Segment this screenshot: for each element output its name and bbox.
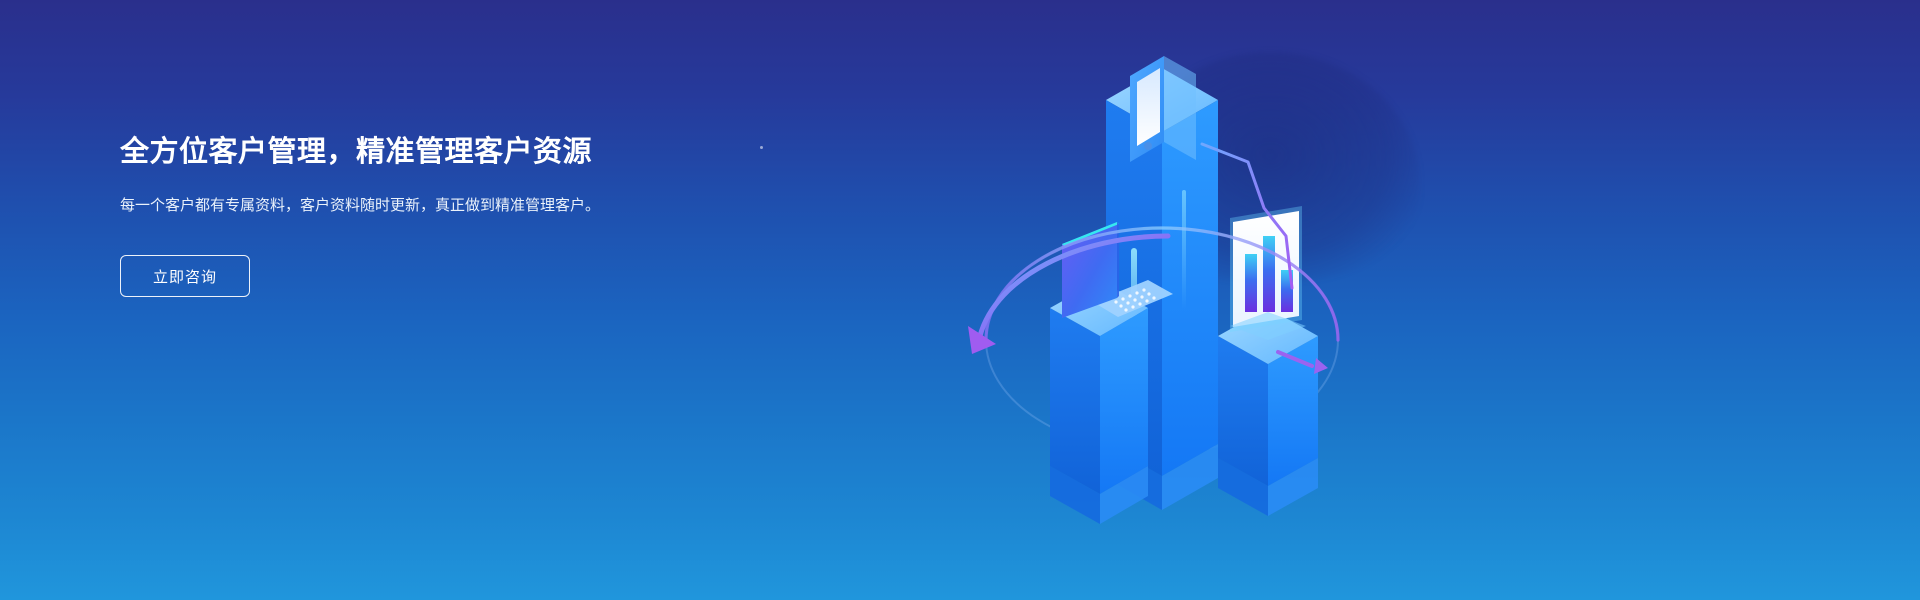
hero-subtitle: 每一个客户都有专属资料，客户资料随时更新，真正做到精准管理客户。: [120, 194, 600, 217]
hero-copy: 全方位客户管理，精准管理客户资源 每一个客户都有专属资料，客户资料随时更新，真正…: [120, 132, 680, 297]
hero-banner: 全方位客户管理，精准管理客户资源 每一个客户都有专属资料，客户资料随时更新，真正…: [0, 0, 1920, 600]
sparkle-dot-icon: [760, 146, 763, 149]
bar-chart-screen: [1230, 206, 1306, 340]
page-title: 全方位客户管理，精准管理客户资源: [120, 132, 680, 172]
consult-now-button[interactable]: 立即咨询: [120, 255, 250, 297]
hero-illustration: [930, 40, 1390, 570]
